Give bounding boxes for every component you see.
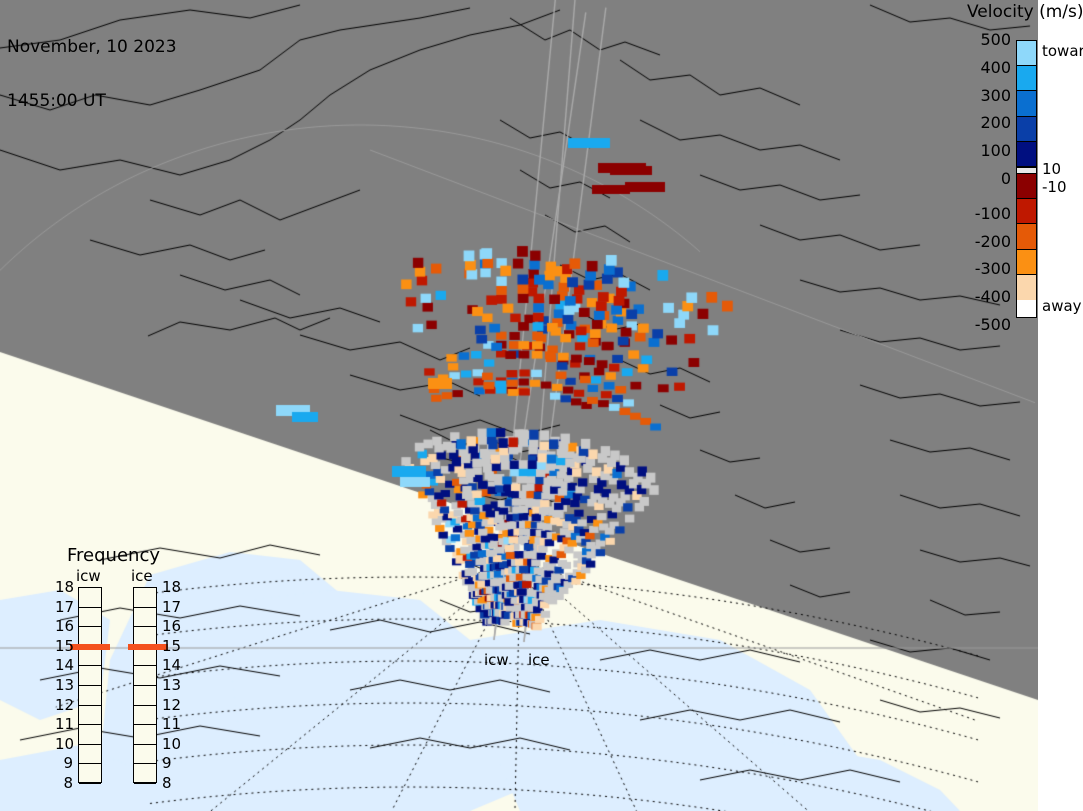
frequency-cell-ice-6 [134, 706, 156, 726]
frequency-cell-icw-6 [79, 706, 101, 726]
colorbar-segment-toward-3 [1017, 117, 1036, 142]
frequency-tick-right-13: 13 [162, 676, 181, 694]
frequency-cell-icw-0 [79, 588, 101, 608]
colorbar-segment-away-4 [1017, 275, 1036, 300]
timestamp: November, 10 2023 1455:00 UT [7, 2, 177, 146]
frequency-cell-ice-1 [134, 608, 156, 628]
frequency-legend: Frequency icw ice 1818171716161515141413… [55, 545, 185, 785]
colorbar-tick-400: 400 [965, 58, 1011, 77]
site-label-ice: ice [528, 651, 550, 669]
frequency-tick-left-15: 15 [55, 637, 73, 655]
frequency-tick-right-15: 15 [162, 637, 181, 655]
frequency-tick-right-16: 16 [162, 617, 181, 635]
frequency-tick-left-17: 17 [55, 598, 73, 616]
colorbar-away-label: away [1042, 297, 1082, 315]
frequency-tick-left-8: 8 [55, 774, 73, 792]
frequency-tick-left-11: 11 [55, 715, 73, 733]
frequency-tick-left-16: 16 [55, 617, 73, 635]
frequency-tick-left-10: 10 [55, 735, 73, 753]
frequency-tick-right-10: 10 [162, 735, 181, 753]
colorbar-tick--300: -300 [965, 259, 1011, 278]
frequency-cell-icw-5 [79, 686, 101, 706]
colorbar-tick-100: 100 [965, 141, 1011, 160]
frequency-tick-right-11: 11 [162, 715, 181, 733]
frequency-tick-right-14: 14 [162, 656, 181, 674]
colorbar-threshold-upper: 10 [1042, 160, 1061, 178]
frequency-column-title-icw: icw [76, 567, 101, 585]
frequency-cell-ice-9 [134, 764, 156, 784]
frequency-tick-left-14: 14 [55, 656, 73, 674]
frequency-tick-left-9: 9 [55, 754, 73, 772]
frequency-cell-icw-4 [79, 666, 101, 686]
colorbar-threshold-lower: -10 [1042, 178, 1067, 196]
frequency-cell-ice-8 [134, 745, 156, 765]
colorbar-tick--200: -200 [965, 232, 1011, 251]
frequency-cell-ice-5 [134, 686, 156, 706]
frequency-legend-title: Frequency [67, 545, 160, 566]
frequency-tick-right-8: 8 [162, 774, 172, 792]
colorbar-segment-away-1 [1017, 199, 1036, 224]
frequency-tick-right-9: 9 [162, 754, 172, 772]
frequency-tick-left-13: 13 [55, 676, 73, 694]
velocity-colorbar [1016, 40, 1037, 318]
colorbar-segment-toward-1 [1017, 66, 1036, 91]
colorbar-tick-0: 0 [965, 169, 1011, 188]
superdarn-velocity-map: November, 10 2023 1455:00 UT Velocity (m… [0, 0, 1083, 811]
frequency-tick-left-18: 18 [55, 578, 73, 596]
frequency-tick-right-18: 18 [162, 578, 181, 596]
colorbar-tick--500: -500 [965, 315, 1011, 334]
colorbar-tick-200: 200 [965, 113, 1011, 132]
colorbar-segment-away-3 [1017, 250, 1036, 275]
frequency-bar-ice [133, 587, 157, 783]
colorbar-tick-500: 500 [965, 30, 1011, 49]
velocity-legend-title: Velocity (m/s) [967, 2, 1083, 22]
frequency-tick-left-12: 12 [55, 696, 73, 714]
colorbar-deadband [1017, 167, 1036, 174]
frequency-cell-icw-9 [79, 764, 101, 784]
colorbar-tick--400: -400 [965, 287, 1011, 306]
frequency-cell-icw-7 [79, 725, 101, 745]
frequency-cell-icw-1 [79, 608, 101, 628]
colorbar-segment-toward-2 [1017, 91, 1036, 116]
frequency-cell-ice-4 [134, 666, 156, 686]
frequency-marker-icw [70, 644, 110, 650]
timestamp-time: 1455:00 UT [7, 92, 177, 110]
frequency-cell-icw-8 [79, 745, 101, 765]
colorbar-tick--100: -100 [965, 204, 1011, 223]
frequency-bar-icw [78, 587, 102, 783]
frequency-tick-right-12: 12 [162, 696, 181, 714]
timestamp-date: November, 10 2023 [7, 38, 177, 56]
frequency-cell-ice-7 [134, 725, 156, 745]
colorbar-segment-away-2 [1017, 224, 1036, 249]
site-label-icw: icw [484, 651, 509, 669]
velocity-legend-panel [1038, 0, 1083, 811]
colorbar-tick-300: 300 [965, 86, 1011, 105]
colorbar-toward-label: toward [1042, 42, 1083, 60]
frequency-cell-ice-0 [134, 588, 156, 608]
colorbar-segment-toward-4 [1017, 142, 1036, 167]
colorbar-segment-toward-0 [1017, 41, 1036, 66]
colorbar-segment-away-0 [1017, 174, 1036, 199]
frequency-tick-right-17: 17 [162, 598, 181, 616]
frequency-column-title-ice: ice [131, 567, 153, 585]
